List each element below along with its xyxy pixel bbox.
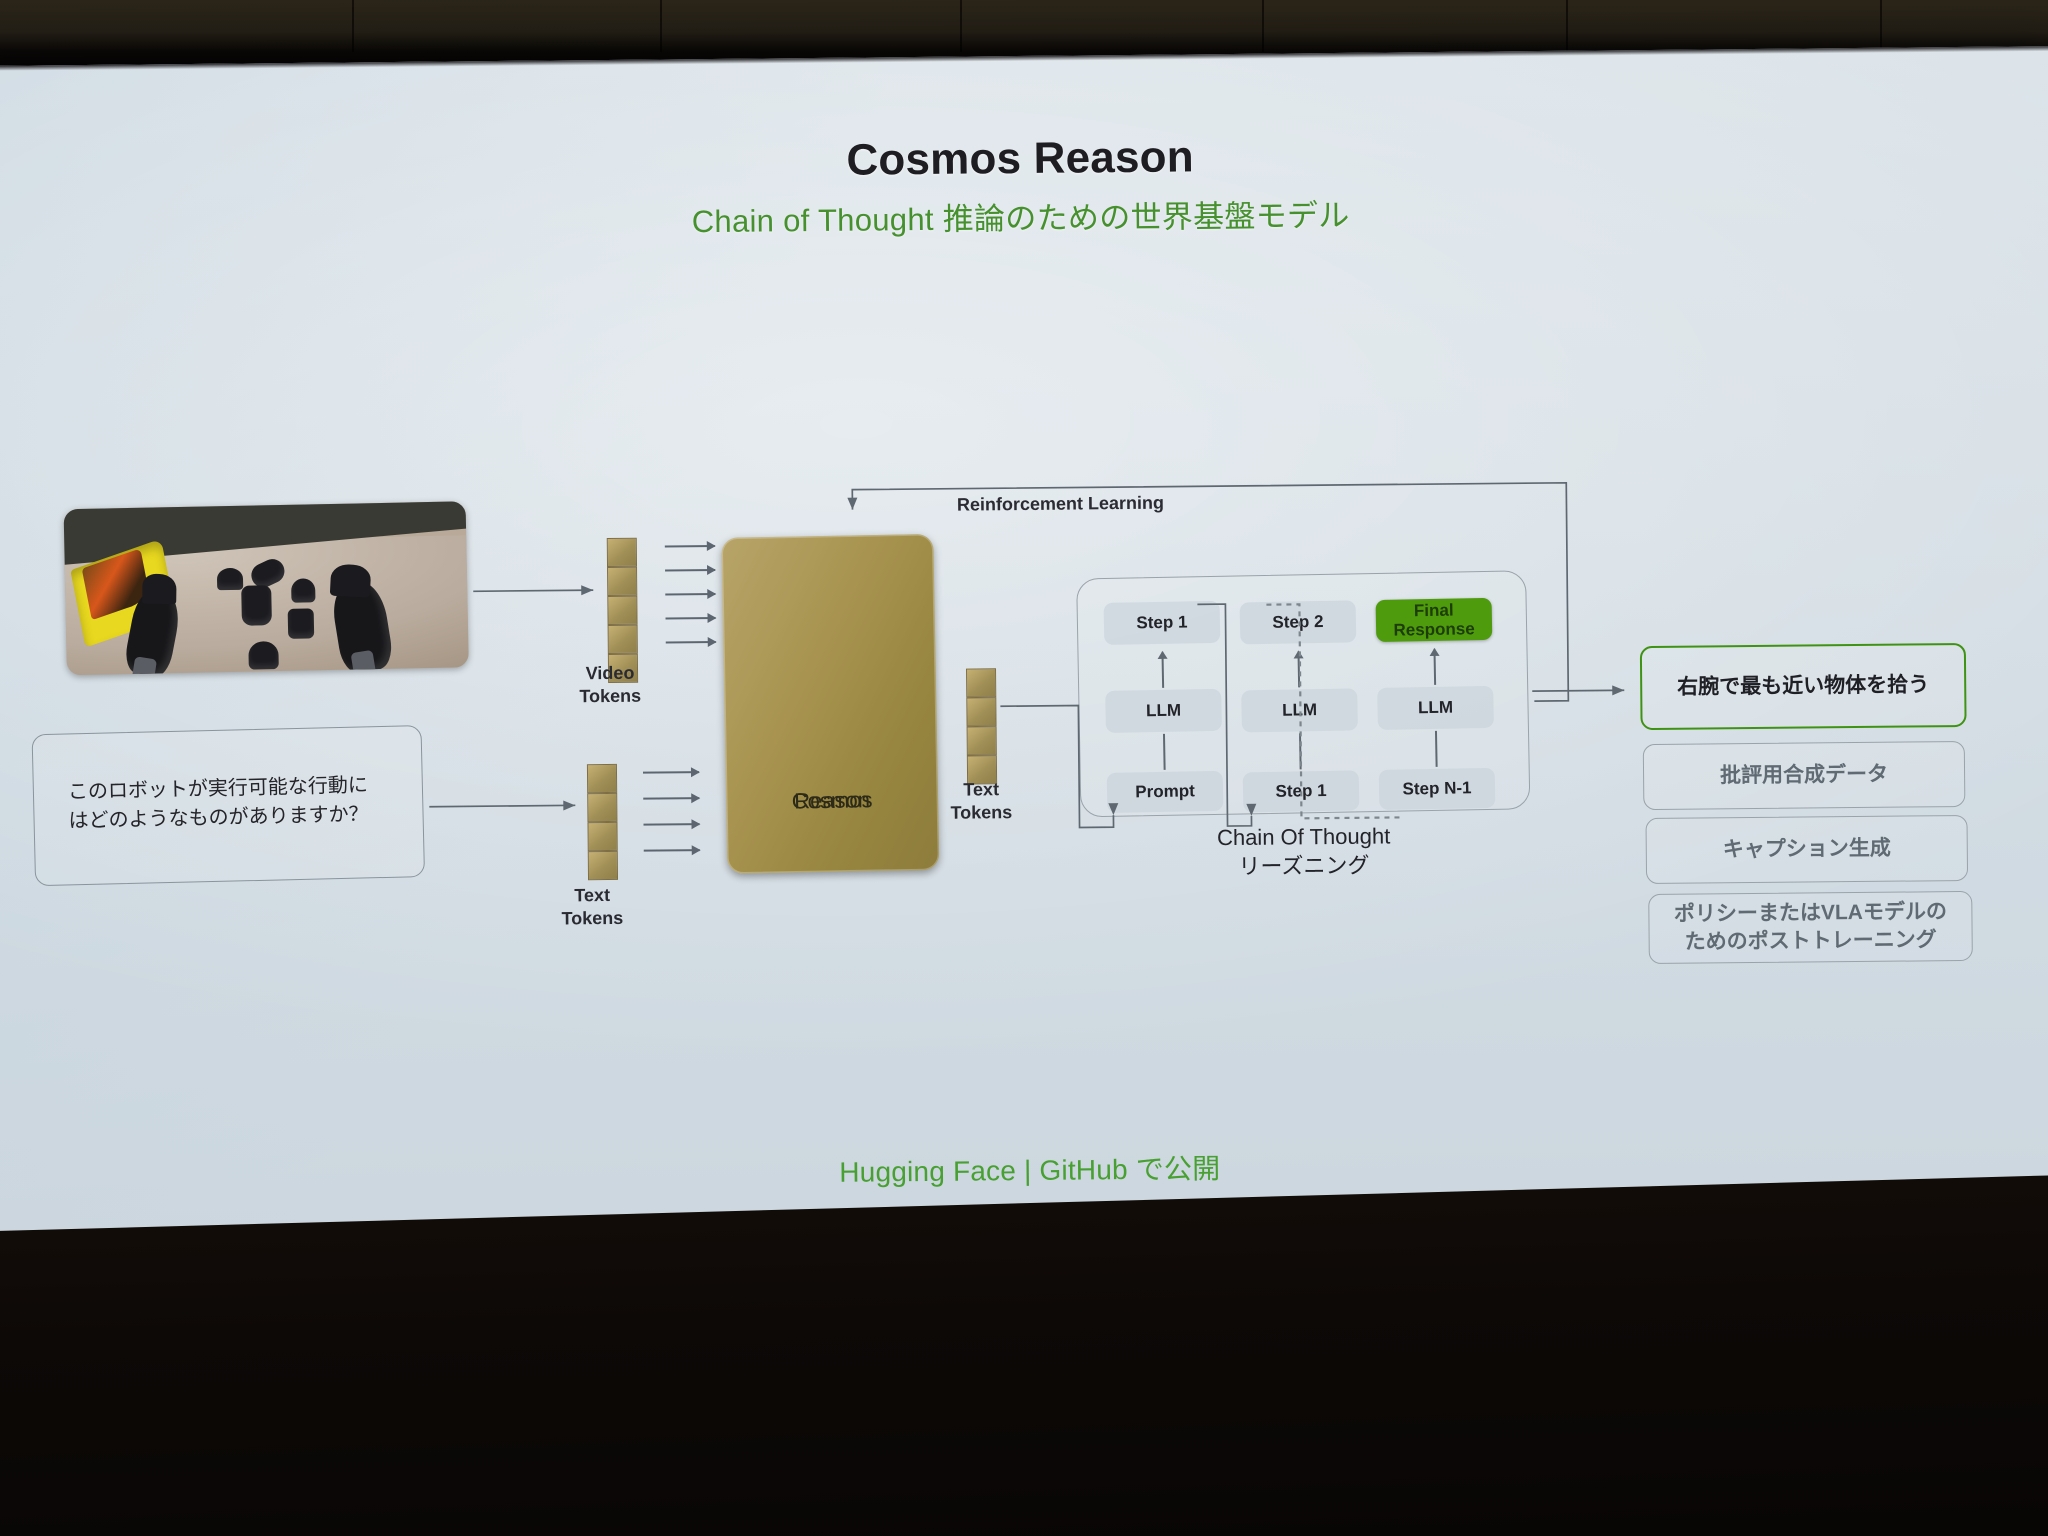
projection-screen: Cosmos Reason Chain of Thought 推論のための世界基… — [0, 46, 2048, 1288]
output-box-critique-data: 批評用合成データ — [1643, 741, 1966, 810]
photo-of-conference-screen: Cosmos Reason Chain of Thought 推論のための世界基… — [0, 0, 2048, 1536]
foreground-shadow — [0, 1174, 2048, 1536]
presentation-slide: Cosmos Reason Chain of Thought 推論のための世界基… — [0, 46, 2048, 1288]
output-box-caption-generation: キャプション生成 — [1645, 815, 1968, 884]
output-box-action: 右腕で最も近い物体を拾う — [1640, 643, 1967, 730]
output-box-post-training: ポリシーまたはVLAモデルの ためのポストトレーニング — [1648, 891, 1973, 964]
